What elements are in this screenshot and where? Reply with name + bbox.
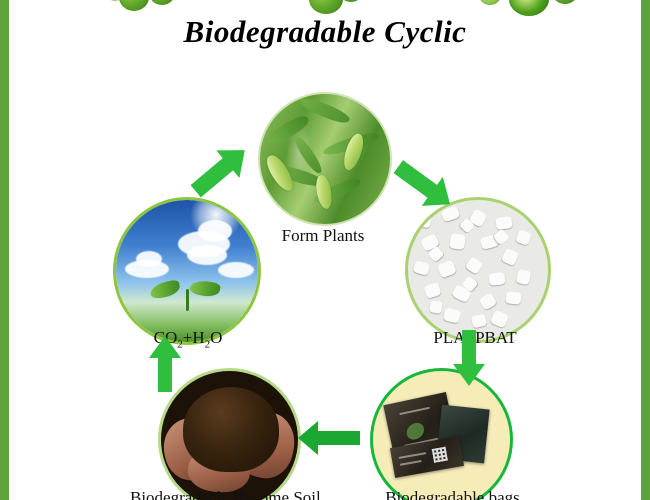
page-title: Biodegradable Cyclic — [0, 14, 650, 50]
right-green-border — [641, 0, 650, 500]
pellet-icon — [449, 233, 466, 250]
pellet-icon — [478, 293, 497, 311]
arrow-plants-to-pellets — [392, 158, 458, 219]
pellet-icon — [490, 310, 509, 329]
corn-cob-icon — [314, 174, 334, 210]
left-green-border — [0, 0, 9, 500]
pellet-icon — [464, 256, 483, 275]
diagram-page: Biodegradable Cyclic Form Plants CO2+H2O — [0, 0, 650, 500]
bag-leaf-logo-icon — [405, 422, 426, 441]
node-image-bags — [370, 368, 513, 500]
node-label-soil: Biodegradable Become Soil — [130, 488, 320, 500]
pellet-icon — [516, 269, 532, 285]
pellet-icon — [429, 300, 443, 314]
arrow-bags-to-soil — [298, 418, 360, 463]
pellet-icon — [501, 248, 519, 266]
bag-print-line — [400, 407, 430, 415]
pellet-icon — [505, 292, 521, 306]
vegetable-blob-icon — [552, 0, 578, 4]
pellet-icon — [471, 313, 487, 328]
bag-print-line — [400, 460, 422, 466]
node-label-bags: Biodegradable bags — [360, 488, 545, 500]
vegetable-blob-icon — [309, 0, 343, 14]
vegetable-blob-icon — [149, 0, 175, 5]
pellet-icon — [412, 260, 430, 276]
node-label-plants: Form Plants — [258, 226, 388, 246]
pellet-icon — [443, 307, 462, 323]
pellet-icon — [423, 282, 441, 299]
node-image-plants — [258, 92, 392, 226]
cloud-icon — [136, 251, 162, 267]
vegetable-blob-icon — [479, 0, 501, 5]
pellet-icon — [515, 229, 531, 245]
arrow-soil-to-co2h2o — [148, 336, 182, 397]
pellet-icon — [489, 272, 506, 286]
pellet-icon — [495, 216, 513, 230]
compost-soil-icon — [183, 387, 279, 472]
bag-print-line — [399, 452, 427, 459]
node-image-co2h2o — [113, 197, 261, 345]
arrow-co2h2o-to-plants — [188, 142, 254, 203]
sprout-stem-icon — [186, 289, 189, 311]
arrow-pellets-to-bags — [452, 330, 486, 391]
bag-qr-code-icon — [432, 447, 448, 463]
pellet-icon — [437, 259, 457, 278]
node-label-co2h2o: CO2+H2O — [113, 328, 263, 350]
vegetable-blob-icon — [119, 0, 149, 11]
cloud-icon — [198, 220, 232, 242]
